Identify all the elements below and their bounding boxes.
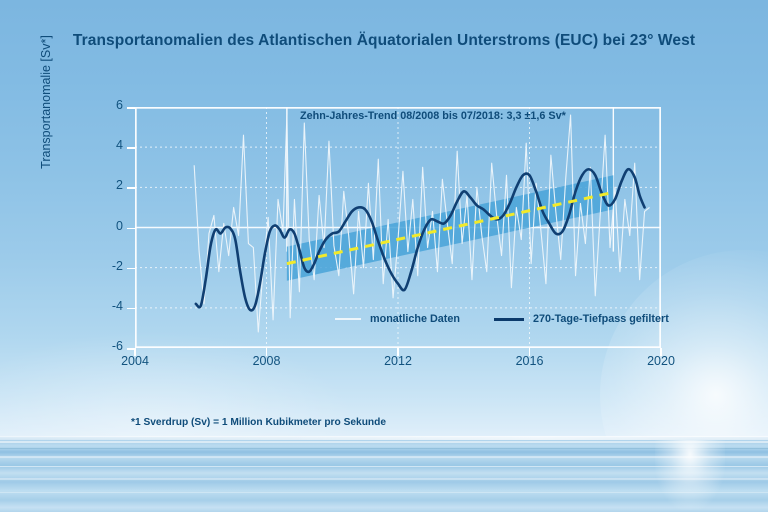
x-tick-label: 2004 <box>105 354 165 368</box>
x-tick-label: 2008 <box>237 354 297 368</box>
y-tick-label: -2 <box>89 259 123 273</box>
y-tick-mark <box>127 268 135 270</box>
footnote: *1 Sverdrup (Sv) = 1 Million Kubikmeter … <box>131 417 386 428</box>
legend-swatch-monthly <box>335 318 361 320</box>
y-tick-mark <box>127 228 135 230</box>
y-tick-label: 2 <box>89 178 123 192</box>
y-tick-mark <box>127 107 135 109</box>
x-tick-mark <box>397 348 399 356</box>
legend-label-filtered: 270-Tage-Tiefpass gefiltert <box>533 313 669 325</box>
background-sea <box>0 437 768 512</box>
chart-title: Transportanomalien des Atlantischen Äqua… <box>0 32 768 50</box>
sun-reflection <box>655 440 725 510</box>
y-tick-label: -4 <box>89 299 123 313</box>
y-tick-mark <box>127 187 135 189</box>
x-tick-label: 2012 <box>368 354 428 368</box>
x-tick-mark <box>266 348 268 356</box>
legend-label-monthly: monatliche Daten <box>370 313 460 325</box>
y-tick-label: -6 <box>89 339 123 353</box>
horizon-line <box>0 436 768 440</box>
chart-svg <box>135 107 661 348</box>
y-tick-mark <box>127 308 135 310</box>
y-tick-label: 4 <box>89 138 123 152</box>
x-tick-label: 2020 <box>631 354 691 368</box>
y-tick-mark <box>127 147 135 149</box>
y-axis-label: Transportanomalie [Sv*] <box>39 0 53 212</box>
trend-annotation: Zehn-Jahres-Trend 08/2008 bis 07/2018: 3… <box>300 110 566 122</box>
screenshot-root: Transportanomalien des Atlantischen Äqua… <box>0 0 768 512</box>
x-tick-mark <box>660 348 662 356</box>
x-tick-mark <box>134 348 136 356</box>
x-tick-mark <box>529 348 531 356</box>
x-tick-label: 2016 <box>500 354 560 368</box>
y-tick-label: 6 <box>89 98 123 112</box>
chart-legend: monatliche Daten 270-Tage-Tiefpass gefil… <box>335 313 669 325</box>
plot-area <box>135 107 661 348</box>
y-tick-label: 0 <box>89 219 123 233</box>
legend-swatch-filtered <box>494 318 524 321</box>
